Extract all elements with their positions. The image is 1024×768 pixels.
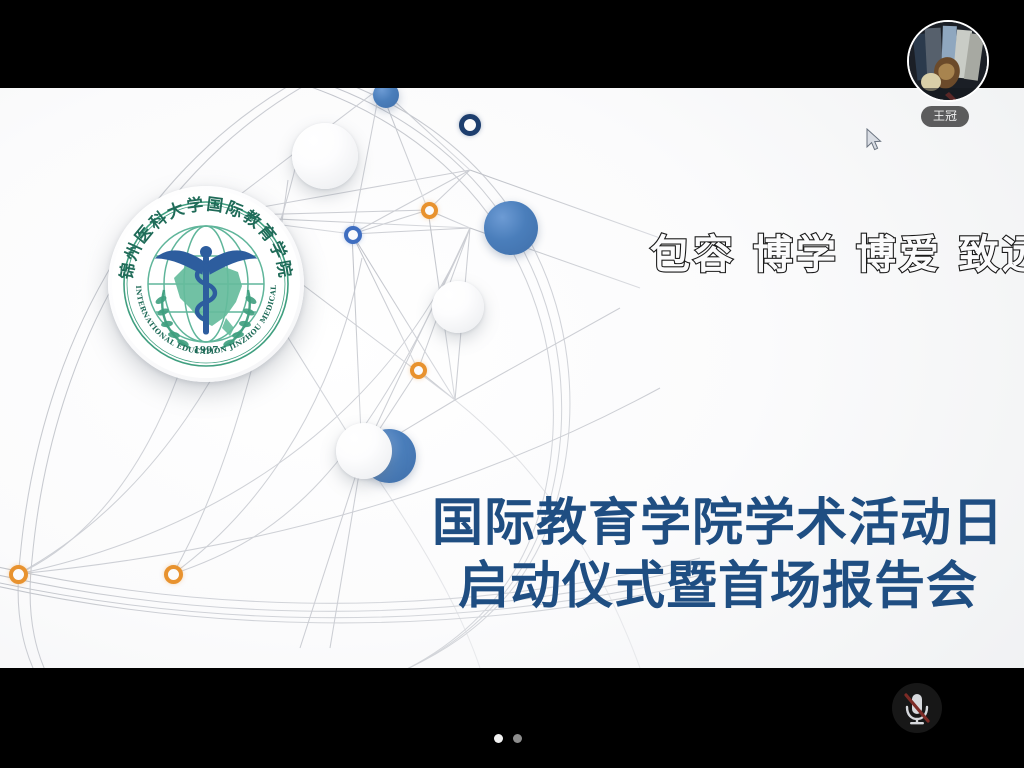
network-ring-blue [344,226,362,244]
slide-title-line-2: 启动仪式暨首场报告会 [424,555,1012,618]
participant-video-tile[interactable] [907,20,989,102]
pagination-dot-active[interactable] [494,734,503,743]
video-avatar[interactable] [907,20,989,102]
network-ring-orange-mid [410,362,427,379]
mouse-pointer-icon [866,128,884,154]
network-ring-orange-low [164,565,183,584]
network-sphere-white-mid [432,281,484,333]
network-sphere-white-top [292,123,358,189]
slide-pagination[interactable] [494,734,530,744]
network-ring-orange-left [9,565,28,584]
participant-name-badge: 王冠 [921,106,969,127]
university-emblem-icon: 锦州医科大学国际教育学院 COLLEGE OF INTERNATIONAL ED… [108,186,304,382]
network-ring-orange-top [421,202,438,219]
network-node-blue-large [484,201,538,255]
meeting-stage: 锦州医科大学国际教育学院 COLLEGE OF INTERNATIONAL ED… [0,0,1024,768]
pagination-dot-inactive[interactable] [513,734,522,743]
slide-title: 国际教育学院学术活动日 启动仪式暨首场报告会 [424,492,1012,618]
logo-year-text: 1997 [193,346,218,356]
network-ring-navy [459,114,481,136]
slide-title-line-1: 国际教育学院学术活动日 [424,492,1012,555]
network-sphere-white-low [336,423,392,479]
presentation-slide[interactable]: 锦州医科大学国际教育学院 COLLEGE OF INTERNATIONAL ED… [0,88,1024,668]
slide-motto: 包容 博学 博爱 致远 [650,222,1000,280]
microphone-muted-icon[interactable] [892,683,942,733]
